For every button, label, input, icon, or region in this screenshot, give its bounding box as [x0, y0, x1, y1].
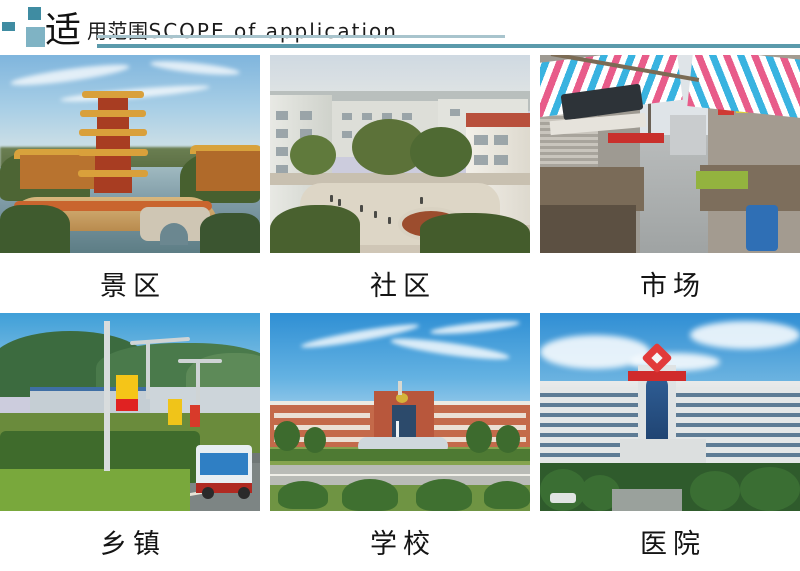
page-title-text: 用范围SCOPE of application [87, 17, 398, 45]
scope-item-label: 景区 [0, 253, 260, 313]
scope-row: 景区 [0, 55, 800, 313]
scope-item-label: 学校 [270, 511, 530, 571]
page-title-lead-char: 适 [45, 12, 87, 50]
scenic-area-pagoda-photo [0, 55, 260, 253]
header-rule-light [97, 35, 505, 38]
scope-grid: 景区 [0, 55, 800, 571]
scope-item-school[interactable]: 学校 [270, 313, 530, 571]
scope-item-township[interactable]: 乡镇 [0, 313, 260, 571]
scope-item-hospital[interactable]: 医院 [540, 313, 800, 571]
square-cluster-decoration-icon [0, 0, 46, 52]
school-campus-photo [270, 313, 530, 511]
township-road-photo [0, 313, 260, 511]
scope-item-label: 乡镇 [0, 511, 260, 571]
scope-item-label: 市场 [540, 253, 800, 313]
scope-item-market[interactable]: 市场 [540, 55, 800, 313]
scope-row: 乡镇 [0, 313, 800, 571]
residential-community-photo [270, 55, 530, 253]
page-header: 适 用范围SCOPE of application [0, 0, 800, 55]
street-market-photo [540, 55, 800, 253]
scope-item-community[interactable]: 社区 [270, 55, 530, 313]
hospital-building-photo [540, 313, 800, 511]
page-title-english: SCOPE of application [149, 19, 398, 43]
scope-item-scenic-area[interactable]: 景区 [0, 55, 260, 313]
scope-item-label: 社区 [270, 253, 530, 313]
page-title: 适 用范围SCOPE of application [45, 0, 398, 48]
page-title-chinese: 用范围 [87, 19, 149, 43]
header-rule-dark [97, 44, 800, 48]
scope-item-label: 医院 [540, 511, 800, 571]
